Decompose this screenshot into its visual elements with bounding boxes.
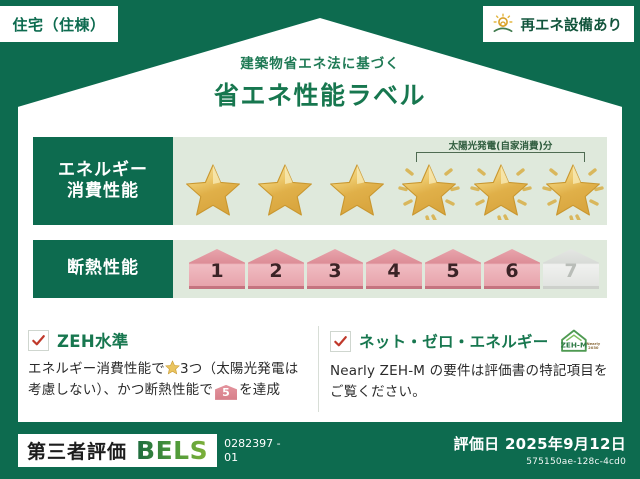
insulation-performance-header: 断熱性能 xyxy=(33,240,173,298)
insulation-performance-row: 断熱性能 1234567 xyxy=(33,240,607,298)
check-icon xyxy=(333,334,348,349)
insulation-level-chip: 3 xyxy=(307,249,363,289)
svg-text:ZEH-M: ZEH-M xyxy=(560,340,587,349)
nze-note-title: ネット・ゼロ・エネルギー xyxy=(359,330,549,352)
zeh-level-chip: 5 xyxy=(215,385,237,400)
svg-text:2030: 2030 xyxy=(588,346,599,350)
energy-star xyxy=(253,160,317,220)
title-subtitle: 建築物省エネ法に基づく xyxy=(0,52,640,72)
house-type-tag-label: 住宅（住棟） xyxy=(12,14,105,35)
check-icon xyxy=(31,333,46,348)
renewable-energy-badge: 再エネ設備あり xyxy=(483,6,635,42)
nze-checkbox xyxy=(330,331,351,352)
energy-star xyxy=(469,160,533,220)
renewable-badge-label: 再エネ設備あり xyxy=(521,14,623,35)
page-title: 建築物省エネ法に基づく 省エネ性能ラベル xyxy=(0,52,640,112)
bels-jp-label: 第三者評価 xyxy=(27,437,127,464)
evaluation-hash: 575150ae-128c-4cd0 xyxy=(454,457,626,467)
insulation-level-chip: 4 xyxy=(366,249,422,289)
energy-performance-header: エネルギー 消費性能 xyxy=(33,137,173,225)
zeh-body-part1: エネルギー消費性能で xyxy=(28,361,165,377)
zeh-body-part3: を達成 xyxy=(239,382,280,398)
star-icon xyxy=(165,360,180,375)
bels-en-label: BELS xyxy=(136,436,208,465)
insulation-level-chip: 5 xyxy=(425,249,481,289)
energy-label-root: 住宅（住棟） 再エネ設備あり 建築物省エネ法に基づく 省エネ性能ラベル xyxy=(0,0,640,479)
solar-bracket-label: 太陽光発電(自家消費)分 xyxy=(416,138,585,152)
bels-block: 第三者評価 BELS 0282397 - 01 xyxy=(18,434,288,467)
bels-registration-number: 0282397 - 01 xyxy=(224,437,288,465)
title-main: 省エネ性能ラベル xyxy=(0,76,640,112)
notes-divider xyxy=(318,326,319,412)
zeh-note-header: ZEH水準 xyxy=(28,328,310,352)
evaluation-block: 評価日 2025年9月12日 575150ae-128c-4cd0 xyxy=(454,433,626,467)
energy-performance-body: 太陽光発電(自家消費)分 xyxy=(173,137,607,225)
net-zero-energy-note: ネット・ゼロ・エネルギー ZEH-M Nearly 2030 Nearly ZE… xyxy=(330,328,612,403)
energy-header-line2: 消費性能 xyxy=(67,181,139,202)
energy-star-rating xyxy=(173,159,607,221)
energy-star xyxy=(541,160,605,220)
zeh-standard-note: ZEH水準 エネルギー消費性能で 3つ（太陽光発電は考慮しない）、かつ断熱性能で… xyxy=(28,328,310,401)
energy-star xyxy=(397,160,461,220)
sun-icon xyxy=(491,12,515,36)
insulation-level-chip: 2 xyxy=(248,249,304,289)
energy-header-line1: エネルギー xyxy=(58,160,148,181)
bels-chip: 第三者評価 BELS xyxy=(18,434,217,467)
energy-performance-row: エネルギー 消費性能 太陽光発電(自家消費)分 xyxy=(33,137,607,225)
nze-note-header: ネット・ゼロ・エネルギー ZEH-M Nearly 2030 xyxy=(330,328,612,354)
insulation-performance-body: 1234567 xyxy=(173,240,607,298)
zeh-m-logo: ZEH-M Nearly 2030 xyxy=(557,328,601,354)
insulation-level-chip: 6 xyxy=(484,249,540,289)
insulation-level-chip: 1 xyxy=(189,249,245,289)
zeh-checkbox xyxy=(28,330,49,351)
energy-star xyxy=(181,160,245,220)
zeh-note-title: ZEH水準 xyxy=(57,328,129,352)
energy-star xyxy=(325,160,389,220)
evaluation-date: 評価日 2025年9月12日 xyxy=(454,433,626,454)
zeh-note-body: エネルギー消費性能で 3つ（太陽光発電は考慮しない）、かつ断熱性能で5を達成 xyxy=(28,359,310,401)
house-type-tag: 住宅（住棟） xyxy=(0,6,118,42)
insulation-level-scale: 1234567 xyxy=(173,240,607,298)
nze-note-body: Nearly ZEH-M の要件は評価書の特記項目をご覧ください。 xyxy=(330,361,612,403)
insulation-level-chip: 7 xyxy=(543,249,599,289)
insulation-header-label: 断熱性能 xyxy=(67,258,139,279)
